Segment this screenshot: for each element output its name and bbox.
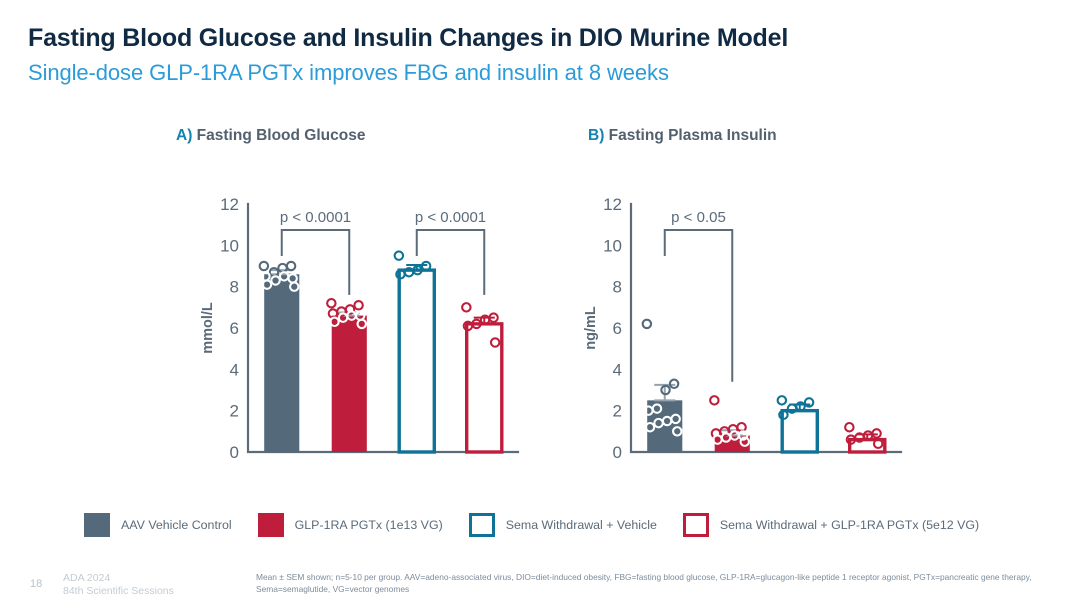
slide-title: Fasting Blood Glucose and Insulin Change… [28,24,788,53]
y-tick-label: 4 [230,360,239,379]
p-value-label: p < 0.0001 [415,209,486,226]
y-tick-label: 12 [603,195,622,214]
y-tick-label: 10 [220,236,239,255]
panel-b-title: Fasting Plasma Insulin [609,127,777,144]
y-tick-label: 0 [230,443,239,462]
panel-a-header: A) Fasting Blood Glucose [176,127,365,145]
legend-item: AAV Vehicle Control [84,513,232,537]
significance-bracket [665,230,733,382]
y-tick-label: 2 [613,402,622,421]
conference-info: ADA 2024 84th Scientific Sessions [63,572,174,597]
legend-item: Sema Withdrawal + GLP-1RA PGTx (5e12 VG) [683,513,979,537]
legend-item: GLP-1RA PGTx (1e13 VG) [258,513,443,537]
legend-swatch-1 [84,513,110,537]
y-axis-label: ng/mL [583,306,599,350]
legend-item: Sema Withdrawal + Vehicle [469,513,657,537]
legend-swatch-3 [469,513,495,537]
chart-fasting-plasma-insulin: 024681012ng/mLp < 0.05 [583,190,913,480]
y-tick-label: 6 [230,319,239,338]
panel-b-header: B) Fasting Plasma Insulin [588,127,777,145]
legend-label: AAV Vehicle Control [121,518,232,532]
p-value-label: p < 0.0001 [280,209,351,226]
legend-label: Sema Withdrawal + Vehicle [506,518,657,532]
bar-2 [332,316,367,452]
y-tick-label: 6 [613,319,622,338]
slide-subtitle: Single-dose GLP-1RA PGTx improves FBG an… [28,60,669,86]
bar-1 [264,274,299,452]
y-tick-label: 8 [230,278,239,297]
p-value-label: p < 0.05 [671,209,726,226]
legend-swatch-2 [258,513,284,537]
y-tick-label: 12 [220,195,239,214]
panel-a-tag: A) [176,127,192,144]
slide-number: 18 [30,578,42,590]
scatter-points-2 [710,396,749,446]
plot-area-a: 024681012mmol/Lp < 0.0001p < 0.0001 [200,190,530,480]
y-tick-label: 10 [603,236,622,255]
panel-b-tag: B) [588,127,604,144]
bar-4 [467,324,502,452]
legend: AAV Vehicle ControlGLP-1RA PGTx (1e13 VG… [84,508,1044,542]
y-tick-label: 0 [613,443,622,462]
footnote: Mean ± SEM shown; n=5-10 per group. AAV=… [256,572,1068,595]
chart-fasting-blood-glucose: 024681012mmol/Lp < 0.0001p < 0.0001 [200,190,530,480]
y-tick-label: 2 [230,402,239,421]
legend-label: Sema Withdrawal + GLP-1RA PGTx (5e12 VG) [720,518,979,532]
conference-session: 84th Scientific Sessions [63,585,174,598]
y-axis-label: mmol/L [200,302,216,354]
y-tick-label: 4 [613,360,622,379]
y-tick-label: 8 [613,278,622,297]
plot-area-b: 024681012ng/mLp < 0.05 [583,190,913,480]
panel-a-title: Fasting Blood Glucose [197,127,366,144]
legend-label: GLP-1RA PGTx (1e13 VG) [295,518,443,532]
legend-swatch-4 [683,513,709,537]
conference-name: ADA 2024 [63,572,174,585]
bar-3 [399,270,434,452]
